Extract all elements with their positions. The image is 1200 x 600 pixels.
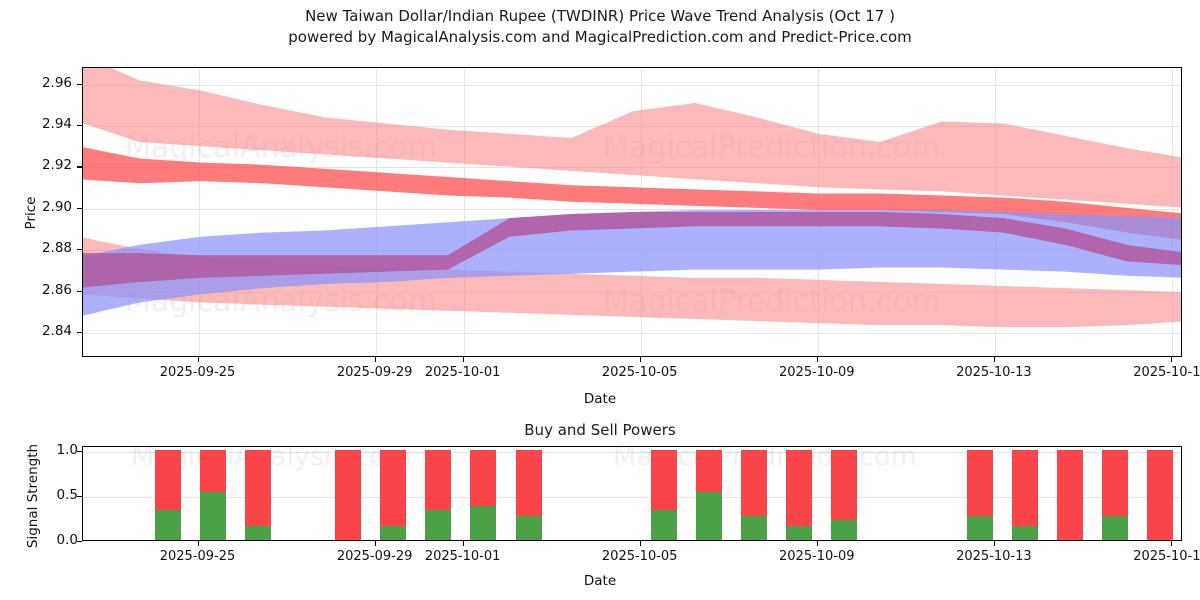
signal-x-tick-mark (463, 541, 464, 546)
sell-power-segment (651, 450, 677, 511)
signal-bar[interactable] (380, 446, 406, 540)
price-x-tick-label: 2025-10-05 (580, 365, 700, 380)
buy-power-segment (155, 510, 181, 540)
signal-x-tick-label: 2025-09-25 (138, 549, 258, 564)
price-x-tick-mark (817, 357, 818, 362)
price-x-tick-mark (640, 357, 641, 362)
price-wave-chart: MagicalAnalysis.com MagicalPrediction.co… (82, 67, 1182, 357)
sell-power-segment (696, 450, 722, 493)
signal-bar[interactable] (1102, 446, 1128, 540)
sell-power-segment (741, 450, 767, 516)
sell-power-segment (470, 450, 496, 506)
price-x-tick-label: 2025-10-09 (757, 365, 877, 380)
price-y-tick-label: 2.84 (8, 323, 72, 339)
sell-power-segment (1102, 450, 1128, 516)
sell-power-segment (967, 450, 993, 516)
signal-x-tick-mark (994, 541, 995, 546)
price-y-tick-mark (77, 208, 82, 209)
signal-x-tick-label: 2025-10-17 (1111, 549, 1200, 564)
price-y-tick-mark (77, 249, 82, 250)
signal-y-axis-label: Signal Strength (25, 426, 41, 566)
buy-power-segment (516, 516, 542, 540)
sell-power-segment (1012, 450, 1038, 526)
price-x-tick-label: 2025-10-13 (934, 365, 1054, 380)
buy-sell-powers-chart: MagicalAnalysis.com MagicalPrediction.co… (82, 446, 1182, 541)
sell-power-segment (786, 450, 812, 526)
price-y-tick-label: 2.92 (8, 157, 72, 173)
signal-x-axis-label: Date (0, 573, 1200, 589)
price-x-tick-mark (463, 357, 464, 362)
price-y-tick-mark (77, 125, 82, 126)
page-title: New Taiwan Dollar/Indian Rupee (TWDINR) … (0, 6, 1200, 48)
price-x-tick-label: 2025-10-17 (1111, 365, 1200, 380)
buy-power-segment (245, 526, 271, 541)
buy-power-segment (425, 510, 451, 540)
buy-power-segment (651, 510, 677, 540)
buy-power-segment (1102, 516, 1128, 540)
sell-power-segment (1057, 450, 1083, 541)
signal-x-tick-label: 2025-10-01 (403, 549, 523, 564)
signal-bar[interactable] (335, 446, 361, 540)
price-x-tick-mark (1171, 357, 1172, 362)
price-y-tick-label: 2.88 (8, 240, 72, 256)
sell-power-segment (516, 450, 542, 516)
signal-x-tick-mark (1171, 541, 1172, 546)
signal-bar[interactable] (1012, 446, 1038, 540)
price-y-tick-mark (77, 332, 82, 333)
signal-x-tick-label: 2025-10-09 (757, 549, 877, 564)
sell-power-segment (425, 450, 451, 511)
signal-bar[interactable] (696, 446, 722, 540)
price-y-tick-mark (77, 291, 82, 292)
buy-power-segment (696, 492, 722, 540)
signal-bar[interactable] (155, 446, 181, 540)
signal-bar[interactable] (425, 446, 451, 540)
signal-bar[interactable] (967, 446, 993, 540)
signal-y-tick-mark (77, 496, 82, 497)
signal-y-tick-label: 0.5 (14, 487, 78, 503)
buy-power-segment (380, 526, 406, 541)
price-y-tick-mark (77, 84, 82, 85)
chart-page: New Taiwan Dollar/Indian Rupee (TWDINR) … (0, 0, 1200, 600)
buy-power-segment (831, 520, 857, 540)
price-x-tick-label: 2025-10-01 (403, 365, 523, 380)
sell-power-segment (245, 450, 271, 526)
signal-x-tick-mark (640, 541, 641, 546)
sell-power-segment (155, 450, 181, 511)
signal-bar[interactable] (651, 446, 677, 540)
signal-bar[interactable] (1147, 446, 1173, 540)
price-y-tick-label: 2.96 (8, 75, 72, 91)
signal-y-tick-label: 1.0 (14, 442, 78, 458)
sell-power-segment (200, 450, 226, 493)
title-line-2: powered by MagicalAnalysis.com and Magic… (0, 27, 1200, 48)
title-line-1: New Taiwan Dollar/Indian Rupee (TWDINR) … (0, 6, 1200, 27)
signal-y-tick-mark (77, 541, 82, 542)
signal-bar[interactable] (516, 446, 542, 540)
sell-power-segment (831, 450, 857, 521)
signal-y-tick-label: 0.0 (14, 532, 78, 548)
price-x-tick-mark (994, 357, 995, 362)
signal-y-tick-mark (77, 451, 82, 452)
price-y-tick-label: 2.90 (8, 199, 72, 215)
sell-power-segment (380, 450, 406, 526)
price-x-tick-mark (198, 357, 199, 362)
signal-bar[interactable] (1057, 446, 1083, 540)
price-y-tick-label: 2.94 (8, 116, 72, 132)
buy-power-segment (470, 506, 496, 540)
signal-x-tick-label: 2025-10-05 (580, 549, 700, 564)
sell-power-segment (335, 450, 361, 541)
signal-bar[interactable] (470, 446, 496, 540)
signal-bar[interactable] (831, 446, 857, 540)
signal-chart-title: Buy and Sell Powers (0, 421, 1200, 439)
price-wave-bands (83, 68, 1181, 356)
buy-power-segment (967, 516, 993, 540)
price-y-tick-label: 2.86 (8, 282, 72, 298)
band-outer-resistance-band (83, 68, 1181, 208)
price-x-axis-label: Date (0, 391, 1200, 407)
price-x-tick-label: 2025-09-25 (138, 365, 258, 380)
signal-x-tick-label: 2025-10-13 (934, 549, 1054, 564)
signal-x-tick-mark (817, 541, 818, 546)
buy-power-segment (200, 492, 226, 540)
signal-bar[interactable] (245, 446, 271, 540)
buy-power-segment (1012, 526, 1038, 541)
sell-power-segment (1147, 450, 1173, 541)
price-x-tick-mark (375, 357, 376, 362)
price-y-axis-label: Price (23, 173, 39, 253)
buy-power-segment (741, 516, 767, 540)
price-y-tick-mark (77, 166, 82, 167)
signal-bar[interactable] (786, 446, 812, 540)
signal-bar[interactable] (200, 446, 226, 540)
signal-x-tick-mark (375, 541, 376, 546)
buy-power-segment (786, 526, 812, 541)
signal-bar[interactable] (741, 446, 767, 540)
signal-x-tick-mark (198, 541, 199, 546)
